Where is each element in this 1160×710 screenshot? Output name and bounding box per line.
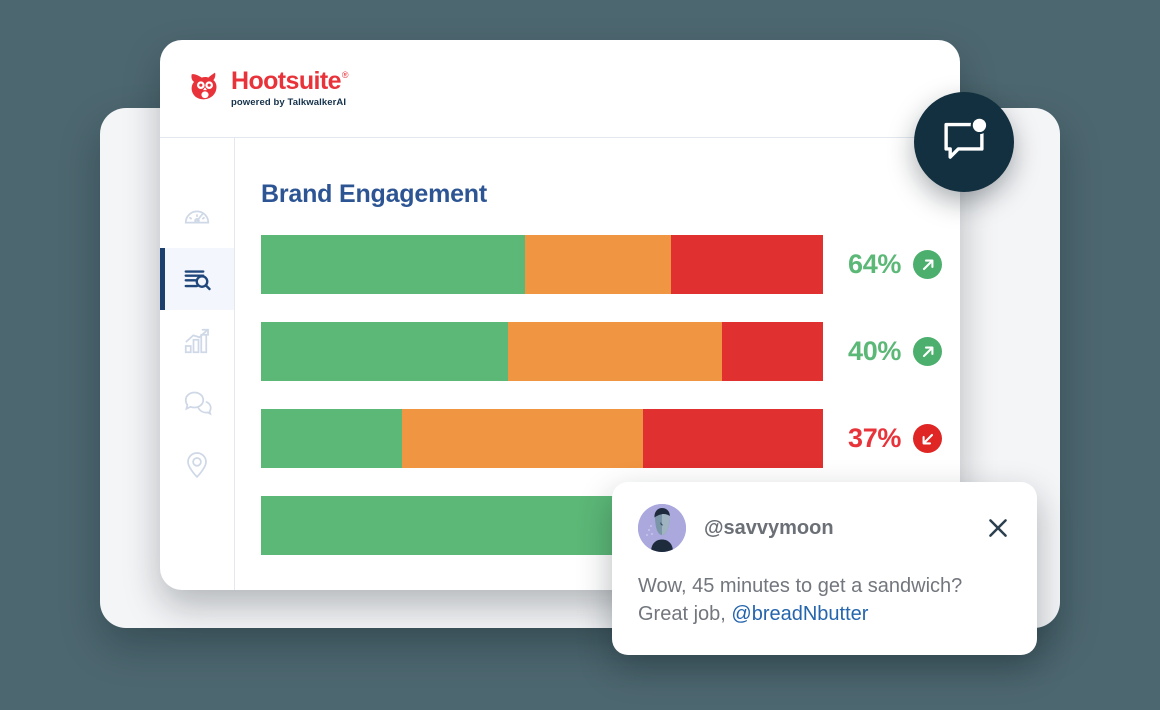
percentage-value: 40% [848, 336, 901, 367]
chart-row-meta: 37% [848, 423, 942, 454]
mention-handle: @savvymoon [704, 517, 985, 540]
chart-row: 37% [261, 409, 960, 468]
mention-link[interactable]: @breadNbutter [731, 603, 868, 625]
app-header: Hootsuite ® powered by TalkwalkerAI [160, 40, 960, 138]
chart-row-meta: 40% [848, 336, 942, 367]
stacked-bar[interactable] [261, 235, 823, 294]
mention-header: @savvymoon [638, 504, 1011, 552]
segment-positive [261, 322, 508, 381]
mention-text-line-1: Wow, 45 minutes to get a sandwich? [638, 575, 962, 597]
mention-text: Wow, 45 minutes to get a sandwich? Great… [638, 572, 1011, 629]
page-title: Brand Engagement [261, 180, 960, 209]
avatar [638, 504, 686, 552]
close-icon[interactable] [985, 515, 1011, 541]
registered-mark: ® [342, 71, 349, 80]
segment-negative [671, 235, 823, 294]
segment-positive [261, 496, 632, 555]
chart-row: 40% [261, 322, 960, 381]
stacked-bar[interactable] [261, 322, 823, 381]
chat-bubbles-icon [182, 388, 212, 418]
mention-text-line-2-prefix: Great job, [638, 603, 731, 625]
arrow-up-right-icon[interactable] [913, 250, 942, 279]
segment-positive [261, 409, 402, 468]
sidebar-item-mentions[interactable] [160, 372, 234, 434]
gauge-icon [182, 202, 212, 232]
stacked-bar[interactable] [261, 409, 823, 468]
percentage-value: 64% [848, 249, 901, 280]
chart-row: 64% [261, 235, 960, 294]
sidebar-item-dashboard[interactable] [160, 186, 234, 248]
chart-row-meta: 64% [848, 249, 942, 280]
sidebar-item-analytics[interactable] [160, 310, 234, 372]
segment-neutral [508, 322, 722, 381]
segment-neutral [402, 409, 644, 468]
arrow-up-right-icon[interactable] [913, 337, 942, 366]
list-search-icon [182, 264, 212, 294]
sidebar-item-research[interactable] [160, 248, 234, 310]
brand-name: Hootsuite [231, 69, 341, 94]
segment-negative [722, 322, 823, 381]
sidebar-item-locations[interactable] [160, 434, 234, 496]
screenshot-stage: Hootsuite ® powered by TalkwalkerAI [0, 0, 1160, 710]
segment-neutral [525, 235, 671, 294]
chat-bubble-notification-icon [938, 114, 990, 171]
sidebar [160, 138, 235, 590]
owl-icon [188, 71, 222, 106]
brand-tagline: powered by TalkwalkerAI [231, 98, 349, 108]
logo[interactable]: Hootsuite ® powered by TalkwalkerAI [188, 69, 349, 108]
percentage-value: 37% [848, 423, 901, 454]
arrow-down-left-icon[interactable] [913, 424, 942, 453]
chat-notification-button[interactable] [914, 92, 1014, 192]
mention-tooltip-card: @savvymoon Wow, 45 minutes to get a sand… [612, 482, 1037, 655]
bar-chart-up-icon [182, 326, 212, 356]
segment-positive [261, 235, 525, 294]
map-pin-icon [182, 450, 212, 480]
segment-negative [643, 409, 823, 468]
